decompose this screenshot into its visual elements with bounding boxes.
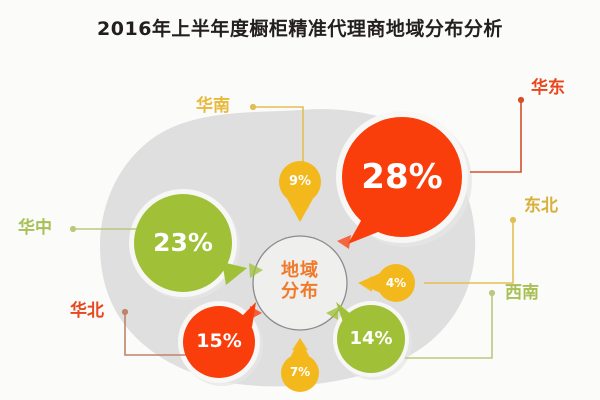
region-label-northeast[interactable]: 东北 bbox=[524, 198, 558, 215]
infographic-canvas: 2016年上半年度橱柜精准代理商地域分布分析 bbox=[0, 0, 600, 400]
bubble-value-central: 23% bbox=[133, 230, 233, 255]
chart-graphics bbox=[0, 0, 600, 400]
region-label-north[interactable]: 华北 bbox=[70, 303, 104, 320]
region-label-southwest[interactable]: 西南 bbox=[505, 285, 539, 302]
bubble-value-south: 9% bbox=[270, 175, 330, 188]
center-label-line1: 地域 bbox=[252, 261, 348, 282]
bubble-value-southwest: 14% bbox=[331, 330, 411, 348]
center-label-line2: 分布 bbox=[252, 282, 348, 303]
center-label: 地域 分布 bbox=[252, 261, 348, 302]
region-label-south[interactable]: 华南 bbox=[196, 98, 230, 115]
bubble-value-north: 15% bbox=[179, 332, 259, 351]
bubble-value-bottom: 7% bbox=[270, 366, 330, 378]
region-label-central[interactable]: 华中 bbox=[18, 220, 52, 237]
region-label-east[interactable]: 华东 bbox=[531, 80, 565, 97]
bubble-value-northeast: 4% bbox=[366, 277, 426, 289]
leader-line-east bbox=[470, 97, 524, 172]
bubble-value-east: 28% bbox=[342, 160, 462, 194]
